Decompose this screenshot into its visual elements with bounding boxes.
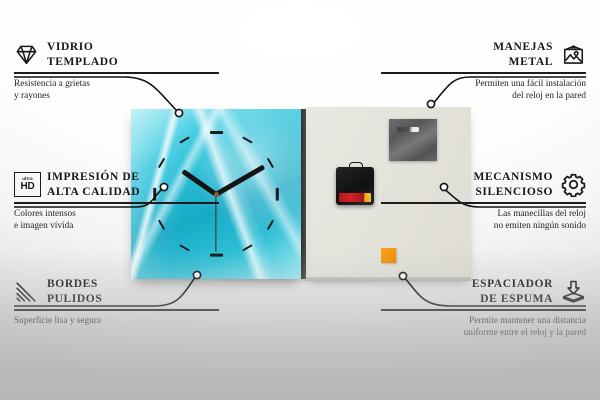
feature-header: ultra HD IMPRESIÓN DE ALTA CALIDAD xyxy=(14,170,219,199)
ultra-hd-badge-icon: ultra HD xyxy=(14,172,39,197)
hanger-slot xyxy=(397,127,419,132)
feature-desc-line1: Superficie lisa y segura xyxy=(14,315,219,327)
feature-title-line2: TEMPLADO xyxy=(47,55,118,70)
feature-desc-line2: del reloj en la pared xyxy=(381,90,586,102)
feature-header: BORDES PULIDOS xyxy=(14,277,219,306)
feature-title: VIDRIO TEMPLADO xyxy=(47,40,118,69)
clock-tick xyxy=(210,131,223,134)
polished-edge-hatch-icon xyxy=(14,279,39,304)
hanging-picture-frame-icon xyxy=(561,42,586,67)
feature-desc-line1: Permite mantener una distancia xyxy=(381,315,586,327)
clock-tick xyxy=(158,158,165,168)
feature-divider xyxy=(381,202,586,203)
feature-title-line1: IMPRESIÓN DE xyxy=(47,170,140,185)
feature-header: MECANISMO SILENCIOSO xyxy=(381,170,586,199)
feature-title-line1: ESPACIADOR xyxy=(472,277,553,292)
feature-divider xyxy=(14,72,219,73)
feature-desc-line2: uniforme entre el reloj y la pared xyxy=(381,327,586,339)
feature-desc-line1: Colores intensos xyxy=(14,208,219,220)
feature-bordes-pulidos: BORDES PULIDOS Superficie lisa y segura xyxy=(14,277,219,327)
feature-title: MECANISMO SILENCIOSO xyxy=(473,170,553,199)
feature-manejas-metal: MANEJAS METAL Permiten una fácil instala… xyxy=(381,40,586,103)
feature-vidrio-templado: VIDRIO TEMPLADO Resistencia a grietas y … xyxy=(14,40,219,103)
feature-divider xyxy=(381,72,586,73)
feature-description: Superficie lisa y segura xyxy=(14,315,219,327)
clock-tick xyxy=(242,136,252,143)
feature-divider xyxy=(381,309,586,310)
feature-title-line2: DE ESPUMA xyxy=(472,292,553,307)
feature-description: Colores intensos e imagen vívida xyxy=(14,208,219,233)
feature-desc-line2: y rayones xyxy=(14,90,219,102)
clock-tick xyxy=(210,254,223,257)
feature-desc-line1: Permiten una fácil instalación xyxy=(381,78,586,90)
clock-tick xyxy=(276,187,279,200)
feature-header: ESPACIADOR DE ESPUMA xyxy=(381,277,586,306)
feature-description: Permite mantener una distancia uniforme … xyxy=(381,315,586,340)
feature-title: ESPACIADOR DE ESPUMA xyxy=(472,277,553,306)
feature-desc-line2: no emiten ningún sonido xyxy=(381,220,586,232)
feature-description: Resistencia a grietas y rayones xyxy=(14,78,219,103)
feature-title: MANEJAS METAL xyxy=(493,40,553,69)
feature-title-line2: ALTA CALIDAD xyxy=(47,185,140,200)
feature-header: MANEJAS METAL xyxy=(381,40,586,69)
diamond-gem-icon xyxy=(14,42,39,67)
metal-hanger-plate xyxy=(389,119,437,161)
feature-desc-line2: e imagen vívida xyxy=(14,220,219,232)
feature-title: IMPRESIÓN DE ALTA CALIDAD xyxy=(47,170,140,199)
feature-desc-line1: Las manecillas del reloj xyxy=(381,208,586,220)
clock-tick xyxy=(242,245,252,252)
clock-tick xyxy=(267,220,274,230)
clock-minute-hand xyxy=(215,165,265,196)
battery xyxy=(339,193,371,202)
feature-desc-line1: Resistencia a grietas xyxy=(14,78,219,90)
clock-tick xyxy=(267,158,274,168)
feature-title-line1: VIDRIO xyxy=(47,40,118,55)
feature-title-line1: MECANISMO xyxy=(473,170,553,185)
feature-header: VIDRIO TEMPLADO xyxy=(14,40,219,69)
clock-tick xyxy=(180,136,190,143)
hd-badge-large-text: HD xyxy=(20,182,34,192)
feature-mecanismo-silencioso: MECANISMO SILENCIOSO Las manecillas del … xyxy=(381,170,586,233)
feature-title-line2: PULIDOS xyxy=(47,292,102,307)
feature-description: Las manecillas del reloj no emiten ningú… xyxy=(381,208,586,233)
feature-impresion-alta-calidad: ultra HD IMPRESIÓN DE ALTA CALIDAD Color… xyxy=(14,170,219,233)
feature-title-line1: BORDES xyxy=(47,277,102,292)
arrow-down-onto-pad-icon xyxy=(561,279,586,304)
feature-title-line2: METAL xyxy=(493,55,553,70)
gear-icon xyxy=(561,172,586,197)
infographic-canvas: VIDRIO TEMPLADO Resistencia a grietas y … xyxy=(0,0,600,400)
feature-espaciador-de-espuma: ESPACIADOR DE ESPUMA Permite mantener un… xyxy=(381,277,586,340)
foam-spacer-pad xyxy=(381,248,396,263)
feature-description: Permiten una fácil instalación del reloj… xyxy=(381,78,586,103)
feature-divider xyxy=(14,309,219,310)
feature-title-line1: MANEJAS xyxy=(493,40,553,55)
clock-tick xyxy=(180,245,190,252)
feature-title-line2: SILENCIOSO xyxy=(473,185,553,200)
feature-title: BORDES PULIDOS xyxy=(47,277,102,306)
feature-divider xyxy=(14,202,219,203)
